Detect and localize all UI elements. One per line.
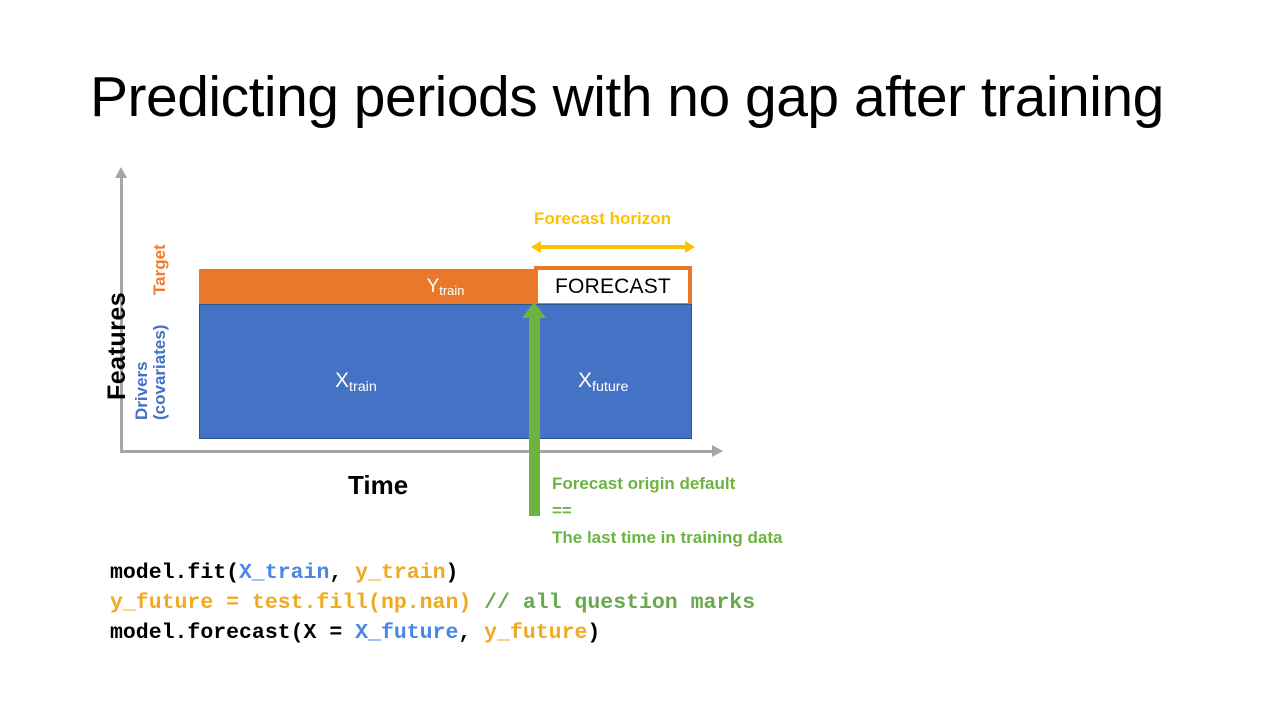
forecast-horizon-arrow-left-icon xyxy=(531,241,541,253)
code-token: y_future xyxy=(484,621,587,645)
forecast-horizon-arrow-line xyxy=(540,245,686,249)
bar-x-train-label: Xtrain xyxy=(335,369,377,393)
code-token: X_train xyxy=(239,561,329,585)
forecast-box: FORECAST xyxy=(534,266,692,307)
bar-x-train-label-sub: train xyxy=(349,379,377,395)
forecast-box-label: FORECAST xyxy=(555,275,671,299)
forecast-origin-arrow-line xyxy=(529,316,540,516)
code-token: y_train xyxy=(355,561,445,585)
bar-y-train-label-main: Y xyxy=(427,276,440,297)
code-token xyxy=(471,591,484,615)
y-axis-drivers-label-line1: Drivers xyxy=(132,361,151,420)
code-token: , xyxy=(458,621,484,645)
y-axis-arrowhead-icon xyxy=(115,167,127,178)
code-line: model.forecast(X = X_future, y_future) xyxy=(110,618,755,648)
forecasting-diagram: Features Target Drivers (covariates) Tim… xyxy=(0,0,900,560)
x-axis-arrowhead-icon xyxy=(712,445,723,457)
code-snippet: model.fit(X_train, y_train)y_future = te… xyxy=(110,558,755,648)
bar-x-future-label-sub: future xyxy=(592,379,628,395)
x-axis-time-label: Time xyxy=(348,470,408,501)
code-token: X_future xyxy=(355,621,458,645)
forecast-horizon-arrow-right-icon xyxy=(685,241,695,253)
code-token: // all question marks xyxy=(484,591,755,615)
bar-x-future-label: Xfuture xyxy=(578,369,629,393)
y-axis-drivers-label: Drivers (covariates) xyxy=(133,325,169,420)
code-token: model.forecast(X = xyxy=(110,621,355,645)
code-line: y_future = test.fill(np.nan) // all ques… xyxy=(110,588,755,618)
forecast-origin-arrowhead-icon xyxy=(522,302,546,318)
forecast-origin-note-line3: The last time in training data xyxy=(552,524,782,551)
y-axis-target-label: Target xyxy=(150,244,170,295)
x-axis-line xyxy=(120,450,714,453)
code-token: y_future = test.fill(np.nan) xyxy=(110,591,471,615)
forecast-origin-note-line1: Forecast origin default xyxy=(552,470,782,497)
bar-x-future-label-main: X xyxy=(578,369,592,392)
bar-x-train-label-main: X xyxy=(335,369,349,392)
code-token: ) xyxy=(446,561,459,585)
y-axis-features-label: Features xyxy=(103,292,132,400)
bar-y-train-label-sub: train xyxy=(439,283,464,298)
forecast-origin-note-line2: == xyxy=(552,497,782,524)
y-axis-drivers-label-line2: (covariates) xyxy=(151,325,169,420)
code-line: model.fit(X_train, y_train) xyxy=(110,558,755,588)
bar-x-block: Xtrain Xfuture xyxy=(199,304,692,439)
code-token: , xyxy=(329,561,355,585)
code-token: ) xyxy=(587,621,600,645)
forecast-origin-note: Forecast origin default == The last time… xyxy=(552,470,782,552)
forecast-horizon-label: Forecast horizon xyxy=(534,209,671,229)
code-token: model.fit( xyxy=(110,561,239,585)
